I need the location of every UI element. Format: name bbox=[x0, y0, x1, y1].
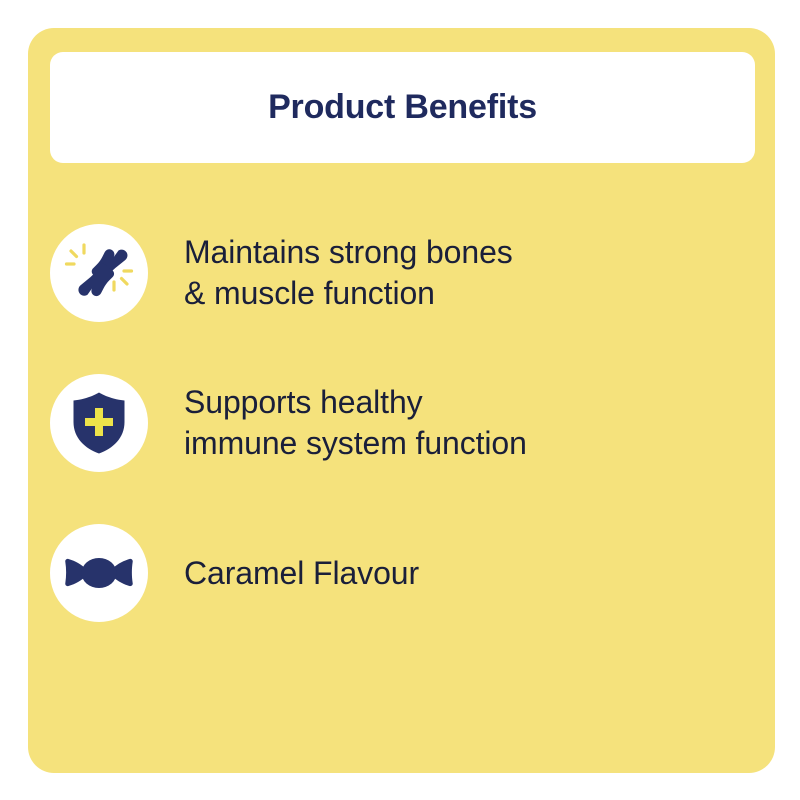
benefit-item-immune: Supports healthy immune system function bbox=[50, 374, 753, 472]
benefit-label: Caramel Flavour bbox=[184, 553, 753, 594]
benefits-panel: Product Benefits bbox=[28, 28, 775, 773]
product-benefits-graphic: Product Benefits bbox=[0, 0, 800, 800]
candy-icon bbox=[50, 524, 148, 622]
benefits-list: Maintains strong bones & muscle function… bbox=[28, 224, 775, 622]
benefit-label: Maintains strong bones & muscle function bbox=[184, 232, 753, 314]
header-card: Product Benefits bbox=[50, 52, 755, 163]
benefit-item-flavour: Caramel Flavour bbox=[50, 524, 753, 622]
benefit-item-bones: Maintains strong bones & muscle function bbox=[50, 224, 753, 322]
page-title: Product Benefits bbox=[268, 89, 537, 126]
bone-joint-icon bbox=[50, 224, 148, 322]
shield-plus-icon bbox=[50, 374, 148, 472]
benefit-label: Supports healthy immune system function bbox=[184, 382, 753, 464]
